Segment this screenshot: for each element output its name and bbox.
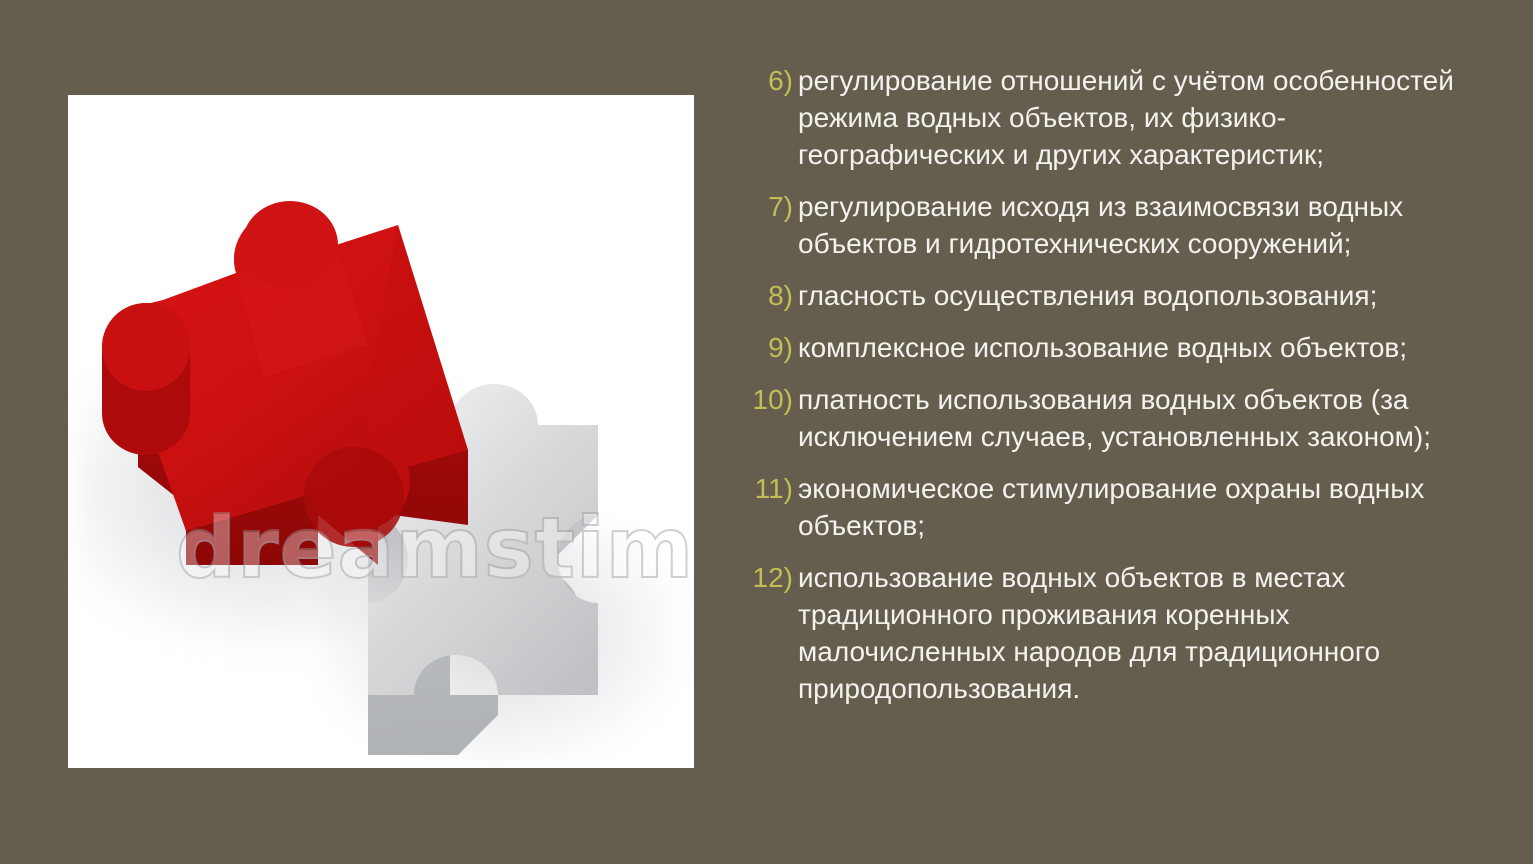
list-item-text: платность использования водных объектов …	[798, 381, 1488, 455]
list-item-text: комплексное использование водных объекто…	[798, 329, 1488, 366]
puzzle-pieces-graphic	[68, 95, 694, 768]
list-item-marker: 6)	[752, 62, 798, 99]
list-item: 10) платность использования водных объек…	[752, 381, 1492, 455]
list-item: 8) гласность осуществления водопользован…	[752, 277, 1492, 314]
illustration-panel: dreamstime.	[68, 95, 694, 768]
list-item-marker: 7)	[752, 188, 798, 225]
principles-list: 6) регулирование отношений с учётом особ…	[752, 62, 1492, 707]
list-item: 11) экономическое стимулирование охраны …	[752, 470, 1492, 544]
list-item: 9) комплексное использование водных объе…	[752, 329, 1492, 366]
slide-canvas: dreamstime. 6) регулирование отношений с…	[0, 0, 1533, 864]
list-item-text: регулирование исходя из взаимосвязи водн…	[798, 188, 1488, 262]
list-item-text: экономическое стимулирование охраны водн…	[798, 470, 1488, 544]
list-item: 7) регулирование исходя из взаимосвязи в…	[752, 188, 1492, 262]
list-item-marker: 12)	[752, 559, 798, 596]
list-item: 12) использование водных объектов в мест…	[752, 559, 1492, 707]
list-item-text: гласность осуществления водопользования;	[798, 277, 1488, 314]
list-item-marker: 9)	[752, 329, 798, 366]
list-item-marker: 10)	[752, 381, 798, 418]
list-item-marker: 8)	[752, 277, 798, 314]
list-item-text: регулирование отношений с учётом особенн…	[798, 62, 1488, 173]
list-item-marker: 11)	[752, 470, 798, 507]
red-puzzle-piece	[102, 201, 468, 565]
list-item-text: использование водных объектов в местах т…	[798, 559, 1488, 707]
list-item: 6) регулирование отношений с учётом особ…	[752, 62, 1492, 173]
puzzle-illustration: dreamstime.	[68, 95, 694, 768]
